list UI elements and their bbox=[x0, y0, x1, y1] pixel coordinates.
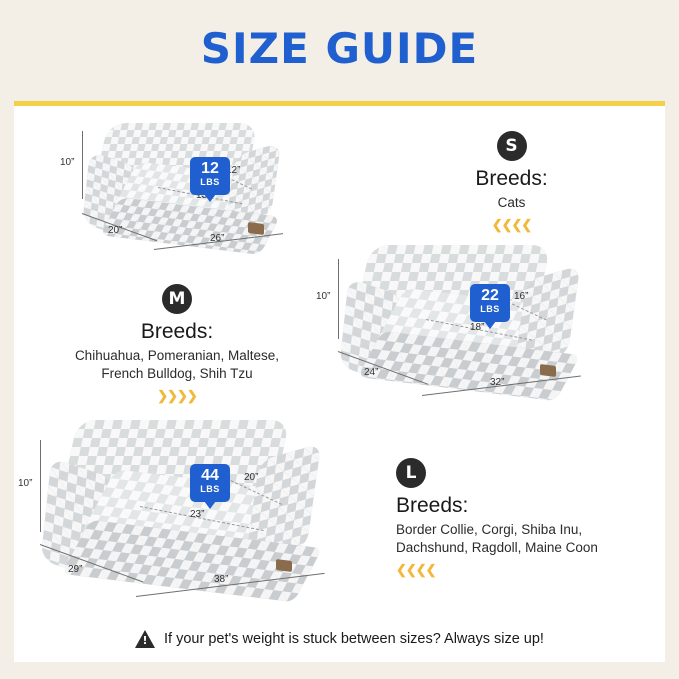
dim-inner-width-large: 23” bbox=[190, 509, 204, 520]
breeds-list-large-line2: Dachshund, Ragdoll, Maine Coon bbox=[396, 539, 656, 557]
weight-unit: LBS bbox=[470, 305, 510, 314]
size-badge-m: M bbox=[162, 284, 192, 314]
breeds-list-small: Cats bbox=[384, 194, 639, 212]
bed-illustration-small: 10” 20” 26” 13” 12” 12 LBS bbox=[80, 121, 310, 261]
dim-width-small: 26” bbox=[210, 233, 224, 244]
weight-badge-large: 44 LBS bbox=[190, 464, 230, 502]
weight-unit: LBS bbox=[190, 485, 230, 494]
breeds-list-large-line1: Border Collie, Corgi, Shiba Inu, bbox=[396, 521, 656, 539]
size-block-medium: M Breeds: Chihuahua, Pomeranian, Maltese… bbox=[32, 284, 322, 404]
weight-value: 12 bbox=[190, 161, 230, 178]
size-guide-page: SIZE GUIDE 10” 20” bbox=[0, 0, 679, 679]
dim-width-large: 38” bbox=[214, 574, 228, 585]
weight-unit: LBS bbox=[190, 178, 230, 187]
size-badge-s: S bbox=[497, 131, 527, 161]
breeds-list-medium-line1: Chihuahua, Pomeranian, Maltese, bbox=[32, 347, 322, 365]
dim-inner-depth-medium: 16” bbox=[514, 291, 528, 302]
breeds-heading-medium: Breeds: bbox=[32, 320, 322, 344]
footer-note: If your pet's weight is stuck between si… bbox=[14, 630, 665, 648]
content-card: 10” 20” 26” 13” 12” 12 LBS S Breeds: Cat… bbox=[14, 101, 665, 662]
dim-depth-medium: 24” bbox=[364, 367, 378, 378]
size-block-small: S Breeds: Cats ❮❮❮❮ bbox=[384, 131, 639, 233]
brand-tag-icon bbox=[276, 559, 292, 572]
breeds-heading-large: Breeds: bbox=[396, 494, 656, 518]
bed-illustration-large: 10” 29” 38” 23” 20” 44 LBS bbox=[36, 416, 376, 616]
dim-inner-depth-large: 20” bbox=[244, 472, 258, 483]
arrows-large: ❮❮❮❮ bbox=[396, 562, 656, 578]
weight-value: 44 bbox=[190, 468, 230, 485]
weight-badge-small: 12 LBS bbox=[190, 157, 230, 195]
brand-tag-icon bbox=[540, 364, 556, 377]
breeds-list-medium-line2: French Bulldog, Shih Tzu bbox=[32, 365, 322, 383]
size-badge-l: L bbox=[396, 458, 426, 488]
bed-illustration-medium: 10” 24” 32” 18” 16” 22 LBS bbox=[334, 241, 624, 411]
dim-depth-small: 20” bbox=[108, 225, 122, 236]
weight-value: 22 bbox=[470, 288, 510, 305]
page-title: SIZE GUIDE bbox=[0, 24, 679, 73]
footer-text: If your pet's weight is stuck between si… bbox=[164, 631, 544, 647]
size-block-large: L Breeds: Border Collie, Corgi, Shiba In… bbox=[396, 458, 656, 578]
arrows-medium: ❯❯❯❯ bbox=[32, 388, 322, 404]
breeds-heading-small: Breeds: bbox=[384, 167, 639, 191]
dim-width-medium: 32” bbox=[490, 377, 504, 388]
weight-badge-medium: 22 LBS bbox=[470, 284, 510, 322]
arrows-small: ❮❮❮❮ bbox=[384, 217, 639, 233]
dim-height-large: 10” bbox=[18, 478, 32, 489]
dim-inner-width-medium: 18” bbox=[470, 322, 484, 333]
warning-triangle-icon bbox=[135, 630, 155, 648]
dim-height-small: 10” bbox=[60, 157, 74, 168]
dim-depth-large: 29” bbox=[68, 564, 82, 575]
brand-tag-icon bbox=[248, 222, 264, 235]
